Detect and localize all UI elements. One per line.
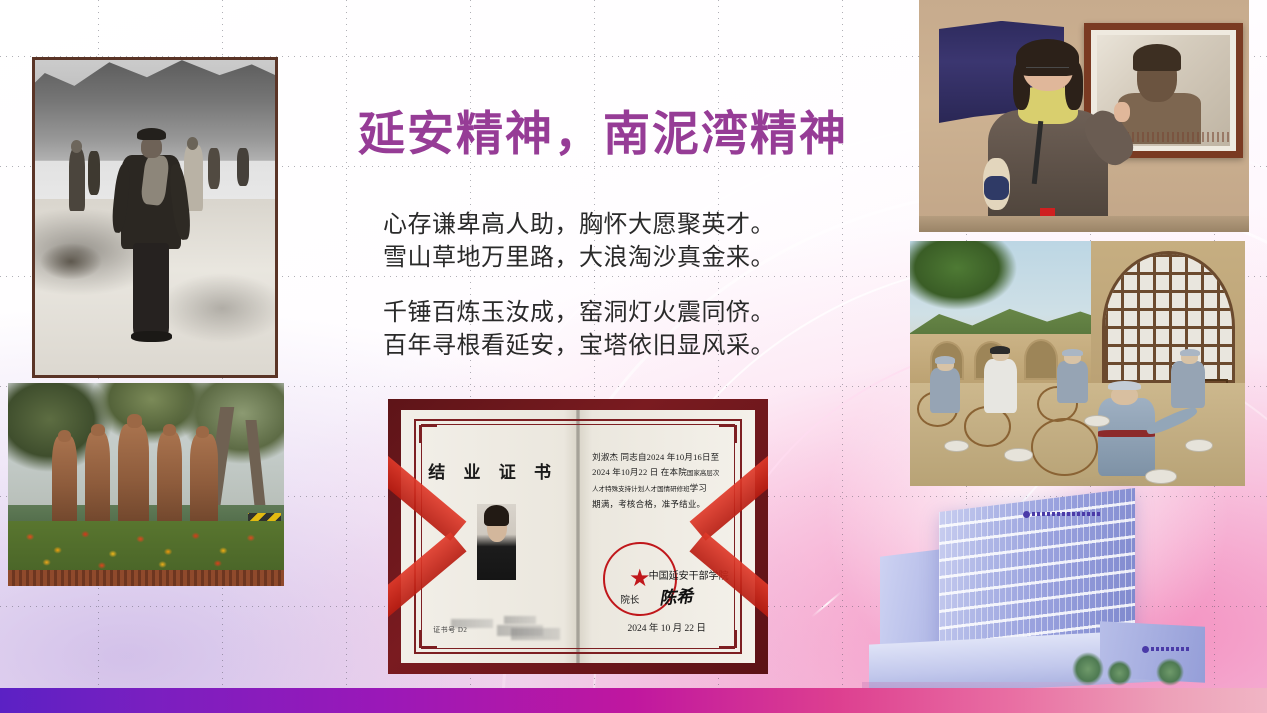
logo-wordmark bbox=[1032, 512, 1100, 516]
certificate-body-line-3-main: 学习 bbox=[690, 483, 707, 493]
certificate-redaction-4 bbox=[511, 628, 560, 641]
building-tree-1 bbox=[1072, 652, 1104, 686]
woman-bag-charm-base bbox=[984, 176, 1009, 200]
certificate-dean-label: 院长 bbox=[620, 592, 639, 606]
statue-figure-1 bbox=[52, 436, 77, 525]
certificate-portrait-hair bbox=[484, 505, 509, 526]
historical-bg-person-4 bbox=[208, 148, 220, 189]
diorama-main-soldier bbox=[1098, 398, 1155, 476]
photo-certificate[interactable]: 结 业 证 书 证书号 D2 刘淑杰 同志自2024 年10月16日至 2024… bbox=[388, 399, 768, 674]
woman-figure bbox=[985, 46, 1110, 232]
poem-gap bbox=[383, 274, 783, 296]
diorama-main-soldier-cap bbox=[1108, 381, 1142, 391]
certificate-corner-tl bbox=[419, 425, 437, 443]
photo-historical[interactable] bbox=[32, 57, 278, 378]
certificate-corner-tr bbox=[719, 425, 737, 443]
woman-fist bbox=[1114, 102, 1130, 122]
building-illustration bbox=[862, 492, 1212, 692]
building-logo-lower bbox=[1142, 644, 1191, 654]
bottom-accent-bar bbox=[0, 688, 1267, 713]
poem-line-3: 千锤百炼玉汝成，窑洞灯火震同侪。 bbox=[383, 296, 783, 329]
statue-figure-3 bbox=[118, 424, 148, 526]
diorama-bowl-4 bbox=[1185, 439, 1214, 452]
logo-mark-icon-2 bbox=[1142, 646, 1149, 653]
diorama-soldier-1 bbox=[930, 368, 960, 412]
diorama-soldier-1-cap bbox=[935, 356, 955, 363]
photo-diorama[interactable] bbox=[910, 241, 1245, 486]
historical-bg-person-2 bbox=[88, 151, 100, 195]
historical-bg-person-1 bbox=[69, 148, 86, 211]
certificate-redaction-3 bbox=[504, 616, 536, 624]
page-title: 延安精神，南泥湾精神 bbox=[358, 95, 858, 164]
certificate-dean-signature: 陈希 bbox=[658, 582, 694, 609]
historical-main-figure-shoes bbox=[131, 331, 172, 342]
diorama-spinning-wheel-main bbox=[1031, 418, 1099, 476]
logo-wordmark-2 bbox=[1151, 647, 1191, 651]
certificate-body-line-3-small: 人才特殊支持计划人才国情研修班 bbox=[592, 486, 690, 493]
statue-head-3 bbox=[127, 414, 142, 427]
certificate-body-line-2-main: 2024 年10月22 日 在本院 bbox=[592, 467, 687, 477]
slide-root: 延安精神，南泥湾精神 心存谦卑高人助，胸怀大愿聚英才。 雪山草地万里路，大浪淘沙… bbox=[0, 0, 1267, 713]
statue-head-1 bbox=[58, 430, 72, 442]
certificate-title: 结 业 证 书 bbox=[426, 458, 560, 483]
diorama-soldier-3 bbox=[1057, 361, 1087, 403]
certificate-body-line-1: 刘淑杰 同志自2024 年10月16日至 bbox=[592, 450, 737, 465]
poem-line-4: 百年寻根看延安，宝塔依旧显风采。 bbox=[383, 329, 783, 362]
glasses-icon bbox=[1026, 67, 1069, 77]
statue-figure-4 bbox=[157, 432, 182, 525]
statue-flower-bed bbox=[8, 521, 284, 574]
photo-statue[interactable] bbox=[8, 383, 284, 586]
framed-photo-hair bbox=[1133, 44, 1181, 71]
diorama-bowl-2 bbox=[1004, 448, 1033, 461]
poem-line-2: 雪山草地万里路，大浪淘沙真金来。 bbox=[383, 241, 783, 274]
logo-mark-icon bbox=[1023, 511, 1030, 518]
historical-bg-person-1-head bbox=[71, 140, 82, 153]
woman-floor bbox=[919, 216, 1249, 232]
certificate-redaction-1 bbox=[451, 619, 493, 628]
diorama-soldier-3-cap bbox=[1062, 349, 1082, 356]
statue-head-5 bbox=[196, 426, 210, 438]
historical-main-figure-legs bbox=[133, 243, 169, 338]
statue-figure-5 bbox=[190, 434, 218, 525]
certificate-portrait-photo bbox=[477, 504, 516, 580]
historical-bg-person-5 bbox=[237, 148, 249, 186]
statue-wood-fence bbox=[8, 570, 284, 586]
diorama-soldier-4 bbox=[1171, 361, 1205, 408]
certificate-body-line-3: 人才特殊支持计划人才国情研修班学习 bbox=[592, 481, 737, 497]
certificate-body-line-2-small: 国家高层次 bbox=[687, 470, 720, 477]
diorama-cave-3 bbox=[1024, 339, 1058, 380]
diorama-soldier-2-cap bbox=[990, 346, 1010, 353]
historical-bg-person-3-head bbox=[187, 137, 198, 150]
poem-block: 心存谦卑高人助，胸怀大愿聚英才。 雪山草地万里路，大浪淘沙真金来。 千锤百炼玉汝… bbox=[383, 208, 783, 362]
diorama-soldier-4-cap bbox=[1180, 349, 1200, 356]
diorama-soldier-2 bbox=[984, 359, 1018, 413]
statue-figure-2 bbox=[85, 432, 110, 525]
statue-head-2 bbox=[91, 424, 105, 436]
poem-line-1: 心存谦卑高人助，胸怀大愿聚英才。 bbox=[383, 208, 783, 241]
certificate-body-line-2: 2024 年10月22 日 在本院国家高层次 bbox=[592, 465, 737, 481]
diorama-bowl-5 bbox=[1145, 469, 1177, 483]
photo-woman-portrait[interactable] bbox=[919, 0, 1249, 232]
certificate-corner-br bbox=[719, 630, 737, 648]
statue-head-4 bbox=[163, 424, 177, 436]
diorama-bowl-3 bbox=[1084, 415, 1109, 427]
diorama-bowl-1 bbox=[944, 440, 969, 452]
certificate-date: 2024 年 10 月 22 日 bbox=[627, 620, 705, 634]
historical-main-figure-cap bbox=[137, 128, 166, 141]
building-logo-top bbox=[1023, 508, 1100, 520]
